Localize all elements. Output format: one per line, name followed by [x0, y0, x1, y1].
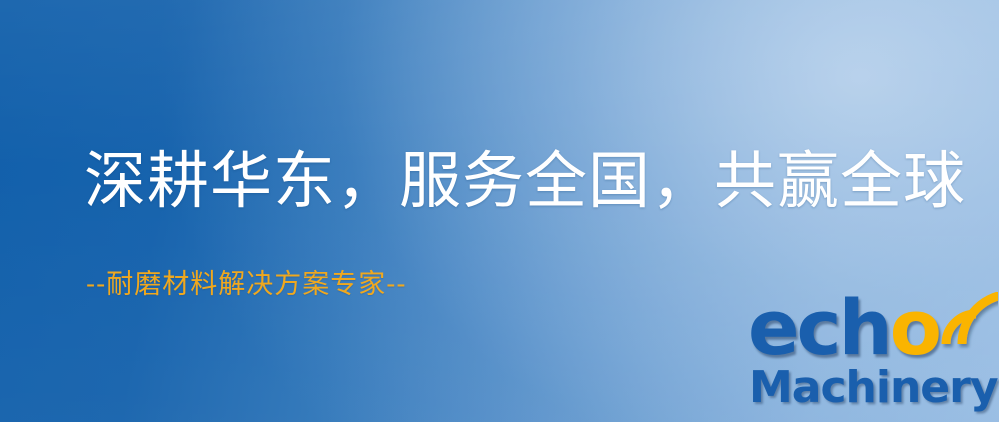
promo-banner: 深耕华东，服务全国，共赢全球 --耐磨材料解决方案专家-- echo Machi… [0, 0, 999, 422]
echo-machinery-logo: echo Machinery® [748, 296, 999, 422]
banner-headline: 深耕华东，服务全国，共赢全球 [84, 146, 966, 215]
logo-echo-o: o [890, 283, 939, 372]
logo-echo-prefix: ech [748, 283, 890, 372]
logo-company-text: Machinery [749, 362, 998, 413]
signal-waves-icon [940, 292, 998, 350]
banner-subheadline: --耐磨材料解决方案专家-- [86, 262, 407, 301]
logo-echo-text: echo [748, 290, 939, 366]
logo-company-name: Machinery® [749, 366, 999, 410]
